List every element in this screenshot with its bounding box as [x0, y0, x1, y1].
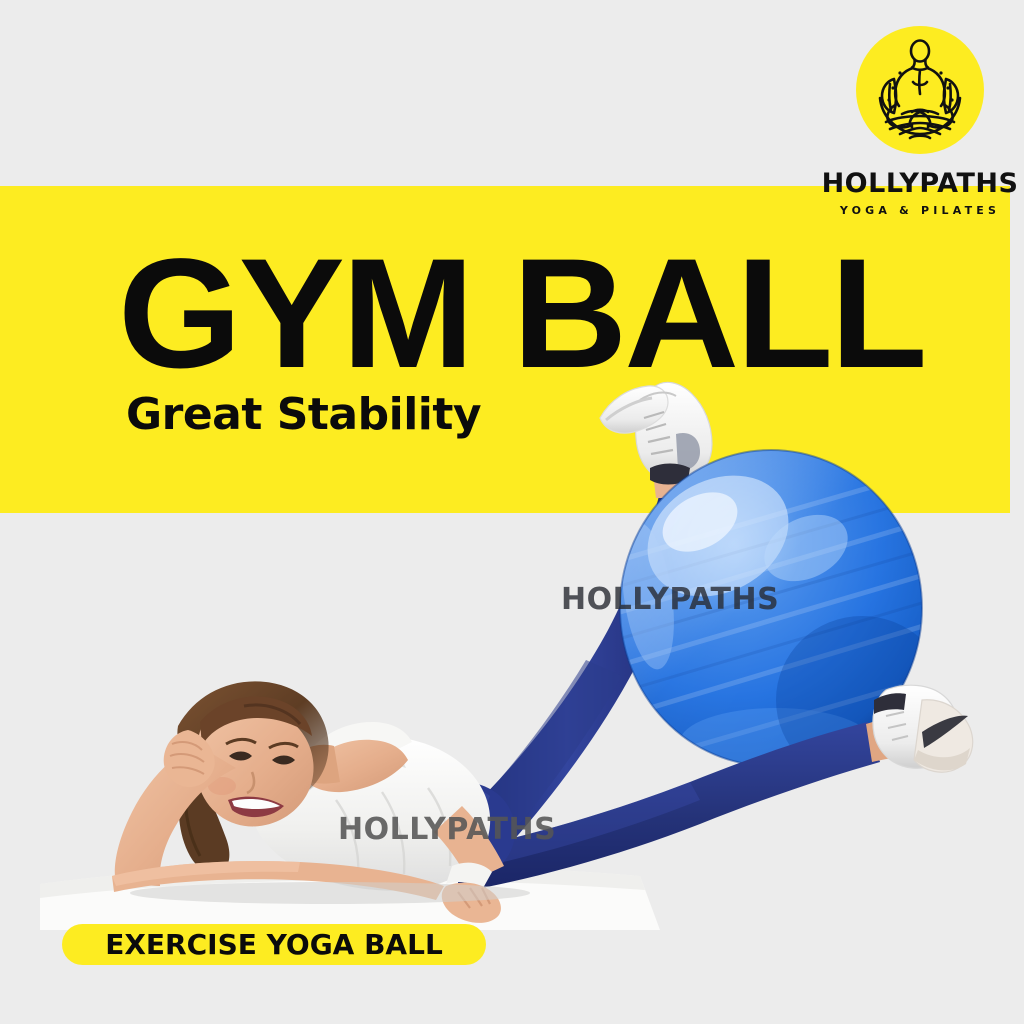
watermark-over-ball: HOLLYPATHS — [561, 582, 779, 617]
meditating-lotus-figure-icon — [856, 26, 984, 154]
page-title: GYM BALL — [118, 243, 924, 387]
product-badge-label: EXERCISE YOGA BALL — [105, 928, 443, 961]
brand-tagline: YOGA & PILATES — [820, 204, 1020, 217]
watermark-over-body: HOLLYPATHS — [338, 812, 556, 847]
brand-name: HOLLYPATHS — [820, 168, 1020, 199]
product-badge[interactable]: EXERCISE YOGA BALL — [62, 924, 486, 965]
brand-logo[interactable]: HOLLYPATHS YOGA & PILATES — [820, 26, 1020, 217]
poster-canvas: GYM BALL Great Stability — [0, 0, 1024, 1024]
page-subtitle: Great Stability — [126, 389, 481, 440]
